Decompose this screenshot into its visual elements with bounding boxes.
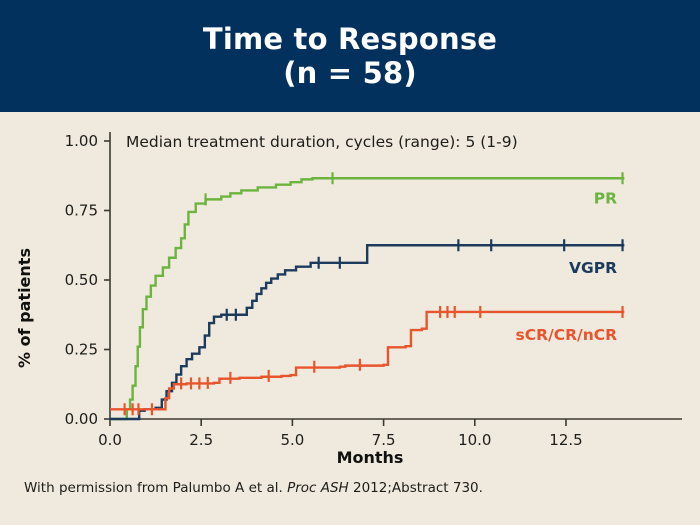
x-axis-tick-label: 10.0 xyxy=(458,431,491,449)
y-axis-tick-label: 0.25 xyxy=(65,341,98,359)
slide-root: Time to Response (n = 58) Median treatme… xyxy=(0,0,700,525)
series-label-vgpr: VGPR xyxy=(569,259,617,277)
x-axis-tick-label: 0.0 xyxy=(98,431,122,449)
source-credit: With permission from Palumbo A et al. Pr… xyxy=(24,479,483,497)
slide-header: Time to Response (n = 58) xyxy=(0,0,700,112)
x-axis-tick-label: 7.5 xyxy=(372,431,396,449)
x-axis-title: Months xyxy=(337,448,404,467)
chart-annotation-group: Median treatment duration, cycles (range… xyxy=(126,133,518,151)
credit-suffix: 2012;Abstract 730. xyxy=(349,480,483,496)
x-axis-tick-label: 5.0 xyxy=(280,431,304,449)
chart-container: Median treatment duration, cycles (range… xyxy=(0,112,700,477)
series-label-pr: PR xyxy=(594,190,617,208)
kaplan-meier-chart: Median treatment duration, cycles (range… xyxy=(0,112,700,477)
median-duration-annotation: Median treatment duration, cycles (range… xyxy=(126,133,518,151)
y-axis-tick-label: 0.50 xyxy=(65,271,98,289)
x-axis-tick-label: 12.5 xyxy=(549,431,582,449)
y-axis-title: % of patients xyxy=(15,248,34,368)
credit-prefix: With permission from Palumbo A et al. xyxy=(24,480,287,496)
page-title-line-1: Time to Response xyxy=(203,22,497,56)
chart-series-labels: PRVGPRsCR/CR/nCR xyxy=(516,190,618,344)
slide-footer: With permission from Palumbo A et al. Pr… xyxy=(0,479,700,525)
y-axis-tick-label: 1.00 xyxy=(65,132,98,150)
page-title-line-2: (n = 58) xyxy=(283,56,417,90)
credit-journal: Proc ASH xyxy=(287,480,349,496)
chart-series xyxy=(110,172,624,419)
chart-axes: 0.000.250.500.751.000.02.55.07.510.012.5 xyxy=(65,132,682,449)
series-label-scr-cr-ncr: sCR/CR/nCR xyxy=(516,326,618,344)
y-axis-tick-label: 0.00 xyxy=(65,410,98,428)
x-axis-tick-label: 2.5 xyxy=(189,431,213,449)
y-axis-tick-label: 0.75 xyxy=(65,202,98,220)
